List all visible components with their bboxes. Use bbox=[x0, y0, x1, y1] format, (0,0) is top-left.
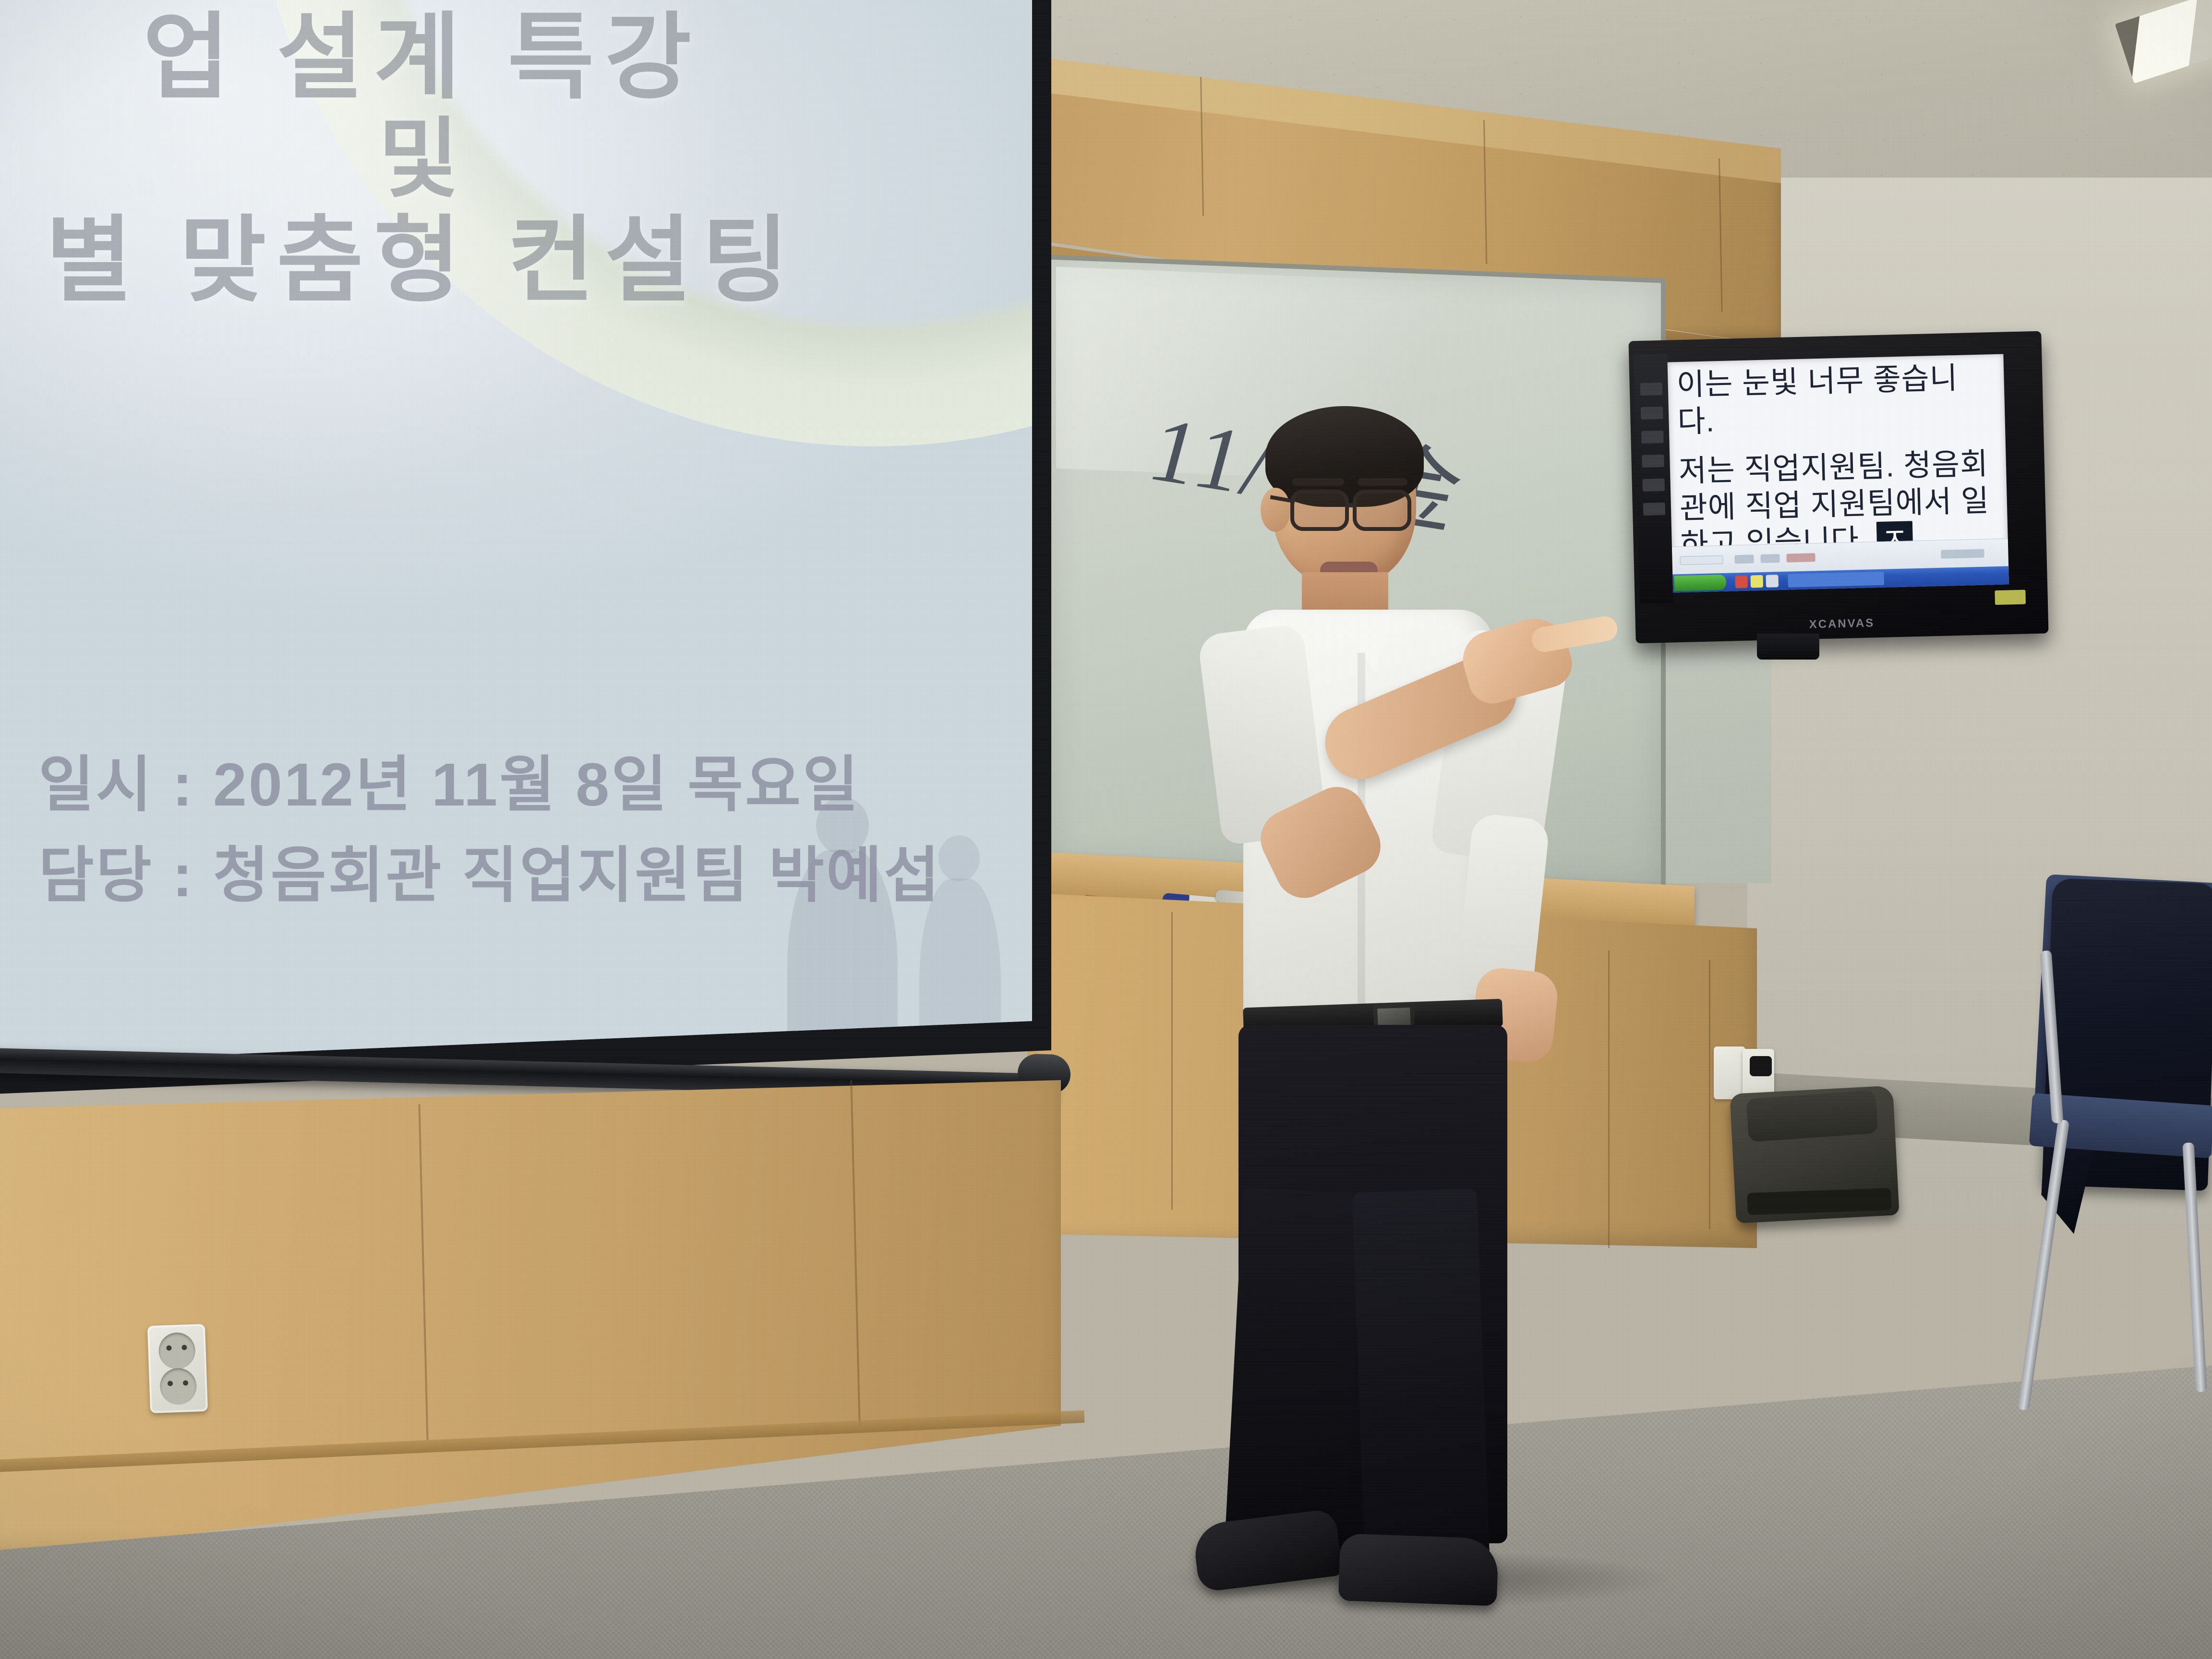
taskbar-item[interactable] bbox=[1766, 575, 1779, 588]
outlet-hole-icon bbox=[181, 1345, 187, 1350]
monitor-power-led-icon bbox=[1995, 590, 2026, 605]
taskbar-window-button[interactable] bbox=[1788, 572, 1884, 588]
slide-meta: 일시 : 2012년 11월 8일 목요일 담당 : 청음회관 직업지원팀 박예… bbox=[38, 739, 979, 921]
outlet-hole-icon bbox=[168, 1381, 173, 1386]
toolbar-chip-icon[interactable] bbox=[1941, 549, 1984, 559]
trouser-leg-left bbox=[1224, 1188, 1363, 1558]
power-plug-icon[interactable] bbox=[1750, 1056, 1772, 1076]
trouser-leg-right bbox=[1352, 1189, 1490, 1567]
toolbar-chip-icon[interactable] bbox=[1760, 554, 1779, 563]
taskbar-item[interactable] bbox=[1750, 575, 1763, 588]
slide-title: 업 설계 특강 및 별 맞춤형 컨설팅 bbox=[0, 5, 922, 313]
presenter-brow-right bbox=[1358, 478, 1407, 486]
monitor-screen: 이는 눈빛 너무 좋습니 다. 저는 직업지원팀. 청음회 관에 직업 지원팀에… bbox=[1668, 354, 2009, 593]
outlet-hole-icon bbox=[183, 1380, 188, 1385]
outlet-hole-icon bbox=[166, 1345, 171, 1350]
monitor-caption-text: 이는 눈빛 너무 좋습니 다. 저는 직업지원팀. 청음회 관에 직업 지원팀에… bbox=[1676, 359, 2008, 564]
wall-power-outlet-left[interactable] bbox=[147, 1324, 208, 1413]
monitor-brand-label: XCANVAS bbox=[1809, 616, 1875, 631]
wall-monitor[interactable]: 이는 눈빛 너무 좋습니 다. 저는 직업지원팀. 청음회 관에 직업 지원팀에… bbox=[1628, 331, 2048, 644]
monitor-wall-mount bbox=[1757, 634, 1819, 660]
wainscot-seam bbox=[1709, 960, 1710, 1229]
glasses-lens-left bbox=[1290, 490, 1349, 531]
monitor-key-icon[interactable] bbox=[1640, 383, 1663, 396]
slide-title-line-2: 및 bbox=[0, 110, 922, 208]
slide-meta-date: 일시 : 2012년 11월 8일 목요일 bbox=[38, 739, 979, 830]
slide-meta-host: 담당 : 청음회관 직업지원팀 박예섭 bbox=[38, 830, 979, 921]
outlet-socket-icon bbox=[159, 1368, 197, 1406]
taskbar-item[interactable] bbox=[1735, 576, 1748, 589]
glasses-lens-right bbox=[1353, 490, 1411, 531]
slide-title-line-3: 별 맞춤형 컨설팅 bbox=[0, 208, 922, 313]
presenter-brow-left bbox=[1292, 478, 1344, 486]
wainscot-seam bbox=[1171, 912, 1173, 1210]
toolbar-chip-icon[interactable] bbox=[1680, 555, 1723, 565]
projection-screen-surface: 업 설계 특강 및 별 맞춤형 컨설팅 일시 : 2012년 11월 8일 목요… bbox=[0, 0, 1032, 1075]
toolbar-chip-icon[interactable] bbox=[1786, 553, 1815, 562]
glasses-bridge bbox=[1348, 503, 1357, 507]
start-button-icon[interactable] bbox=[1674, 575, 1726, 591]
outlet-socket-icon bbox=[158, 1332, 196, 1370]
backpack-flap bbox=[1746, 1090, 1878, 1142]
presenter-ear bbox=[1261, 488, 1290, 532]
wall-power-outlet-right-a[interactable] bbox=[1714, 1046, 1745, 1099]
toolbar-chip-icon[interactable] bbox=[1734, 554, 1754, 564]
classroom-photo: 11/16金 이는 눈빛 너무 좋습니 다. 저는 직업지원팀. 청음회 관 bbox=[0, 0, 2212, 1659]
slide-title-line-1: 업 설계 특강 bbox=[0, 5, 922, 110]
presenter bbox=[1176, 403, 1656, 1565]
dress-shoe-right bbox=[1338, 1533, 1499, 1606]
